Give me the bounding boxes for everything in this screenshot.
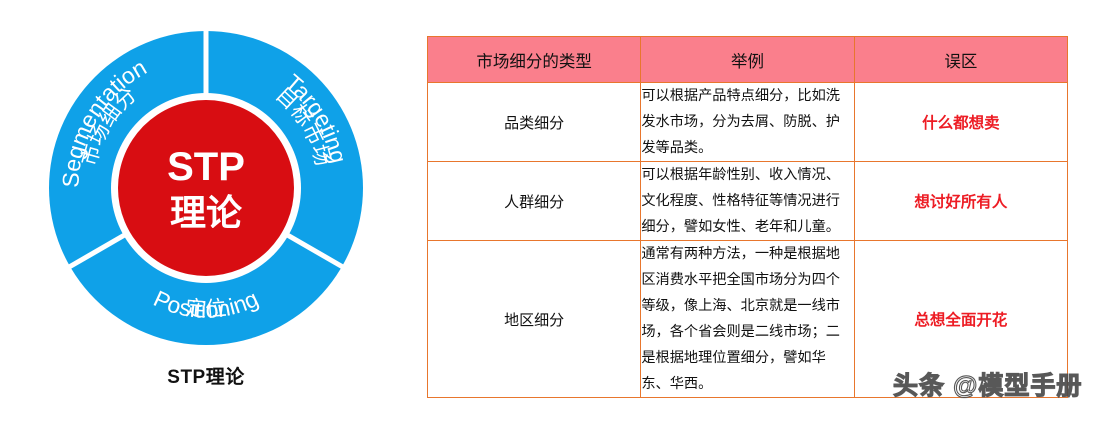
cell-example: 通常有两种方法，一种是根据地区消费水平把全国市场分为四个等级，像上海、北京就是一… — [641, 241, 854, 398]
cell-example: 可以根据年龄性别、收入情况、文化程度、性格特征等情况进行细分，譬如女性、老年和儿… — [641, 162, 854, 241]
slide-canvas: Segmentation 市场细分 Targeting 目标市场 Positio… — [0, 0, 1108, 422]
market-segmentation-table: 市场细分的类型 举例 误区 品类细分 可以根据产品特点细分，比如洗发水市场，分为… — [427, 36, 1068, 398]
column-header-example: 举例 — [641, 37, 854, 83]
watermark: 头条 @模型手册 — [893, 366, 1082, 402]
table-body: 品类细分 可以根据产品特点细分，比如洗发水市场，分为去屑、防脱、护发等品类。 什… — [428, 83, 1068, 398]
table-head: 市场细分的类型 举例 误区 — [428, 37, 1068, 83]
column-header-pitfall: 误区 — [854, 37, 1067, 83]
center-title-line1: STP — [167, 145, 245, 189]
cell-pitfall: 什么都想卖 — [854, 83, 1067, 162]
table-row: 人群细分 可以根据年龄性别、收入情况、文化程度、性格特征等情况进行细分，譬如女性… — [428, 162, 1068, 241]
cell-pitfall: 想讨好所有人 — [854, 162, 1067, 241]
diagram-caption: STP理论 — [46, 362, 366, 389]
stp-donut-diagram: Segmentation 市场细分 Targeting 目标市场 Positio… — [46, 28, 366, 348]
table-row: 品类细分 可以根据产品特点细分，比如洗发水市场，分为去屑、防脱、护发等品类。 什… — [428, 83, 1068, 162]
cell-type: 品类细分 — [428, 83, 641, 162]
cell-type: 地区细分 — [428, 241, 641, 398]
center-title-line2: 理论 — [170, 192, 243, 233]
stp-donut-svg: Segmentation 市场细分 Targeting 目标市场 Positio… — [46, 28, 366, 348]
cell-example: 可以根据产品特点细分，比如洗发水市场，分为去屑、防脱、护发等品类。 — [641, 83, 854, 162]
market-segmentation-table-wrap: 市场细分的类型 举例 误区 品类细分 可以根据产品特点细分，比如洗发水市场，分为… — [427, 36, 1068, 398]
column-header-type: 市场细分的类型 — [428, 37, 641, 83]
cell-type: 人群细分 — [428, 162, 641, 241]
table-header-row: 市场细分的类型 举例 误区 — [428, 37, 1068, 83]
